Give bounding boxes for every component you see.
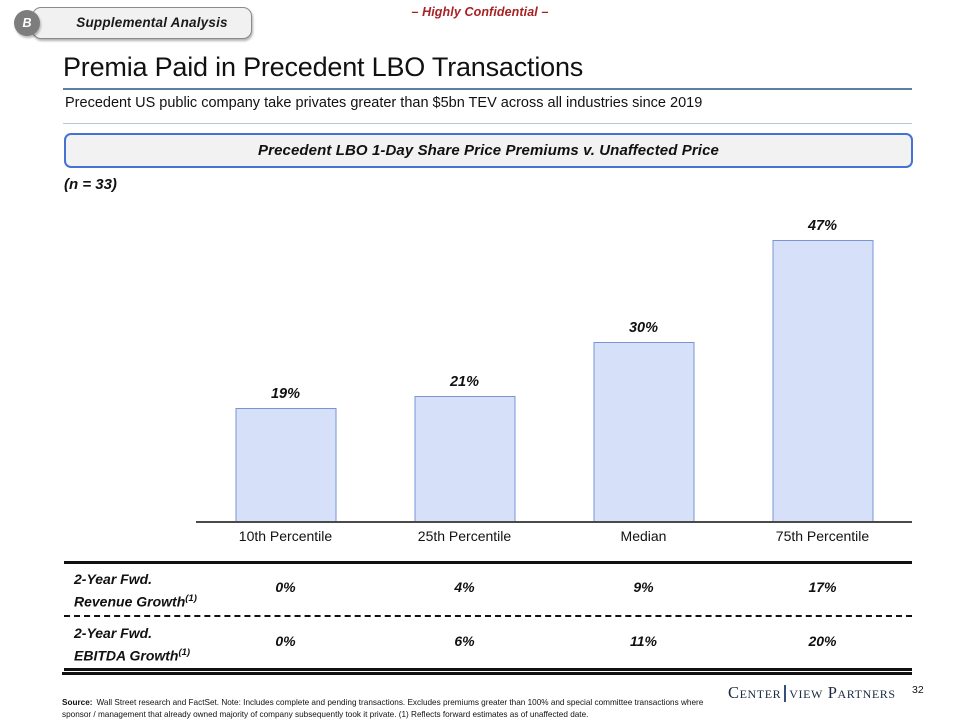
chart-banner-label: Precedent LBO 1-Day Share Price Premiums… — [66, 135, 911, 166]
bar-2 — [414, 396, 515, 522]
bar-column: 21% — [375, 210, 554, 522]
axis-label-2: 25th Percentile — [375, 528, 554, 544]
axis-label-4: 75th Percentile — [733, 528, 912, 544]
data-table: 2-Year Fwd.Revenue Growth(1)0%4%9%17%2-Y… — [64, 561, 912, 671]
bar-value-label: 30% — [629, 320, 658, 336]
table-cell: 6% — [375, 633, 554, 649]
bar-value-label: 21% — [450, 374, 479, 390]
table-cell: 0% — [196, 579, 375, 595]
bar-column: 19% — [196, 210, 375, 522]
firm-logo-left: Center — [728, 683, 781, 703]
bar-1 — [235, 408, 336, 522]
bar-column: 30% — [554, 210, 733, 522]
table-row: 2-Year Fwd.EBITDA Growth(1)0%6%11%20% — [64, 617, 912, 670]
bar-value-label: 47% — [808, 218, 837, 234]
firm-logo-right: view Partners — [789, 683, 895, 703]
confidentiality-notice: – Highly Confidential – — [0, 5, 960, 19]
sample-size-label: (n = 33) — [64, 176, 117, 193]
table-cell: 4% — [375, 579, 554, 595]
table-row: 2-Year Fwd.Revenue Growth(1)0%4%9%17% — [64, 563, 912, 616]
table-cell: 11% — [554, 633, 733, 649]
subtitle-divider — [63, 123, 912, 124]
bar-column: 47% — [733, 210, 912, 522]
firm-logo: Center view Partners — [728, 683, 896, 703]
chart-banner: Precedent LBO 1-Day Share Price Premiums… — [64, 133, 913, 168]
page-number: 32 — [912, 684, 942, 696]
source-text: Wall Street research and FactSet. Note: … — [62, 698, 703, 719]
bar-4 — [772, 240, 873, 522]
axis-label-3: Median — [554, 528, 733, 544]
firm-logo-divider — [784, 685, 786, 702]
chart-baseline-axis — [196, 521, 912, 523]
source-label: Source: — [62, 698, 92, 707]
bar-value-label: 19% — [271, 386, 300, 402]
footer-divider — [62, 672, 912, 675]
table-cell: 0% — [196, 633, 375, 649]
title-divider — [63, 88, 912, 90]
source-note: Source:Wall Street research and FactSet.… — [62, 697, 722, 720]
bar-chart: 19%21%30%47% — [196, 210, 912, 522]
page-title: Premia Paid in Precedent LBO Transaction… — [63, 52, 583, 83]
table-cell: 20% — [733, 633, 912, 649]
axis-label-1: 10th Percentile — [196, 528, 375, 544]
chart-axis-labels: 10th Percentile25th PercentileMedian75th… — [196, 528, 912, 552]
bar-3 — [593, 342, 694, 522]
page-subtitle: Precedent US public company take private… — [65, 95, 702, 111]
table-cell: 9% — [554, 579, 733, 595]
table-cell: 17% — [733, 579, 912, 595]
